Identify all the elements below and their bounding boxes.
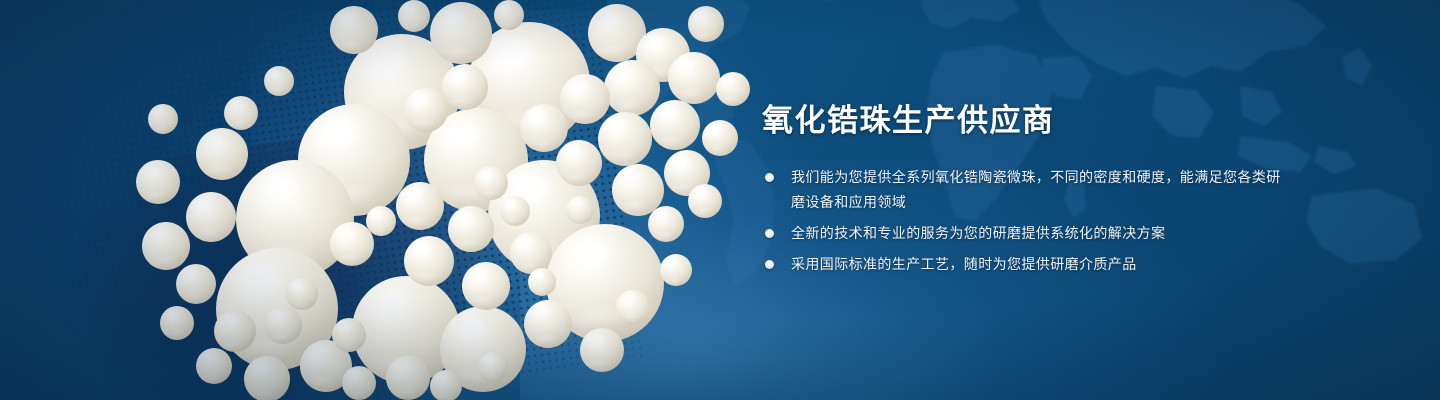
- list-item: 采用国际标准的生产工艺，随时为您提供研磨介质产品: [762, 252, 1282, 277]
- bullet-dot-icon: [765, 173, 774, 182]
- bullet-dot-icon: [765, 229, 774, 238]
- banner-copy: 氧化锆珠生产供应商 我们能为您提供全系列氧化锆陶瓷微珠，不同的密度和硬度，能满足…: [762, 104, 1282, 277]
- list-item-label: 全新的技术和专业的服务为您的研磨提供系统化的解决方案: [791, 225, 1165, 241]
- banner-headline: 氧化锆珠生产供应商: [762, 104, 1282, 138]
- feature-list: 我们能为您提供全系列氧化锆陶瓷微珠，不同的密度和硬度，能满足您各类研磨设备和应用…: [762, 165, 1282, 277]
- list-item: 我们能为您提供全系列氧化锆陶瓷微珠，不同的密度和硬度，能满足您各类研磨设备和应用…: [762, 165, 1282, 215]
- list-item-label: 我们能为您提供全系列氧化锆陶瓷微珠，不同的密度和硬度，能满足您各类研磨设备和应用…: [791, 169, 1281, 210]
- list-item-label: 采用国际标准的生产工艺，随时为您提供研磨介质产品: [791, 256, 1137, 272]
- list-item: 全新的技术和专业的服务为您的研磨提供系统化的解决方案: [762, 221, 1282, 246]
- bullet-dot-icon: [765, 260, 774, 269]
- hero-banner: 氧化锆珠生产供应商 我们能为您提供全系列氧化锆陶瓷微珠，不同的密度和硬度，能满足…: [0, 0, 1440, 400]
